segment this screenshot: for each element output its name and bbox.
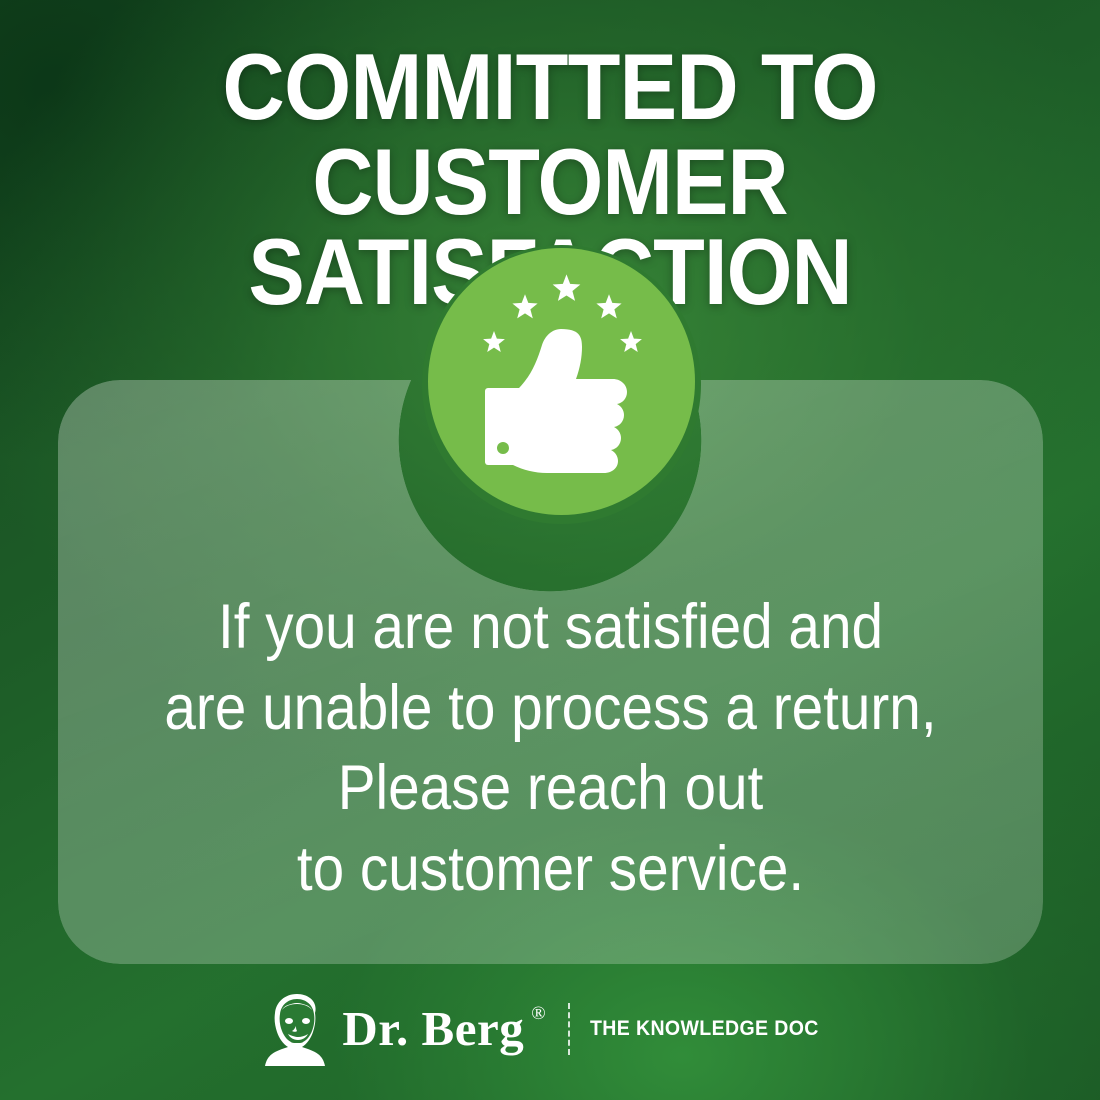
headline-line-1: COMMITTED TO (44, 42, 1056, 131)
brand-divider (568, 1003, 570, 1055)
star-icon-5 (620, 331, 642, 352)
thumbs-up-hand (504, 329, 627, 473)
brand-name: Dr. Berg (342, 1004, 524, 1053)
star-icon-1 (483, 331, 505, 352)
satisfaction-badge (422, 245, 701, 524)
star-icon-2 (512, 294, 537, 318)
message-line-2: are unable to process a return, (107, 668, 994, 749)
star-icon-4 (596, 294, 621, 318)
message-line-1: If you are not satisfied and (107, 587, 994, 668)
message-line-4: to customer service. (107, 829, 994, 910)
brand-lockup: Dr. Berg ® THE KNOWLEDGE DOC (0, 992, 1100, 1066)
cuff-button-icon (497, 442, 509, 454)
message-line-3: Please reach out (107, 748, 994, 829)
registered-mark: ® (531, 1004, 545, 1023)
message-body: If you are not satisfied and are unable … (58, 587, 1043, 910)
star-icon-3 (553, 274, 581, 301)
thumbs-up-five-stars-icon (422, 245, 701, 524)
brand-tagline: THE KNOWLEDGE DOC (590, 1017, 819, 1041)
dr-berg-portrait-icon (264, 992, 330, 1066)
promo-graphic: COMMITTED TO CUSTOMER SATISFACTION If yo… (0, 0, 1100, 1100)
